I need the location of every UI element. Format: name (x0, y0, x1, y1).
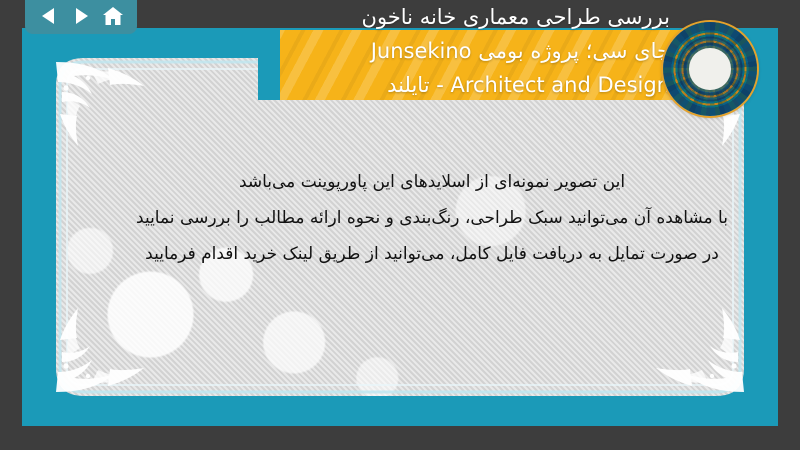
navigation-bar (25, 0, 137, 34)
triangle-right-icon (71, 6, 91, 26)
body-line-3: در صورت تمایل به دریافت فایل کامل، می‌تو… (82, 236, 778, 272)
title-banner (258, 30, 710, 100)
presentation-viewer: این تصویر نمونه‌ای از اسلایدهای این پاور… (0, 0, 800, 450)
back-button[interactable] (36, 3, 62, 29)
slide-body-text: این تصویر نمونه‌ای از اسلایدهای این پاور… (82, 164, 778, 272)
body-line-2: با مشاهده آن می‌توانید سبک طراحی، رنگ‌بن… (82, 200, 778, 236)
mandala-medallion-icon (663, 22, 757, 116)
triangle-left-icon (39, 6, 59, 26)
home-icon (102, 6, 124, 26)
body-line-1: این تصویر نمونه‌ای از اسلایدهای این پاور… (82, 164, 778, 200)
forward-button[interactable] (68, 3, 94, 29)
home-button[interactable] (100, 3, 126, 29)
